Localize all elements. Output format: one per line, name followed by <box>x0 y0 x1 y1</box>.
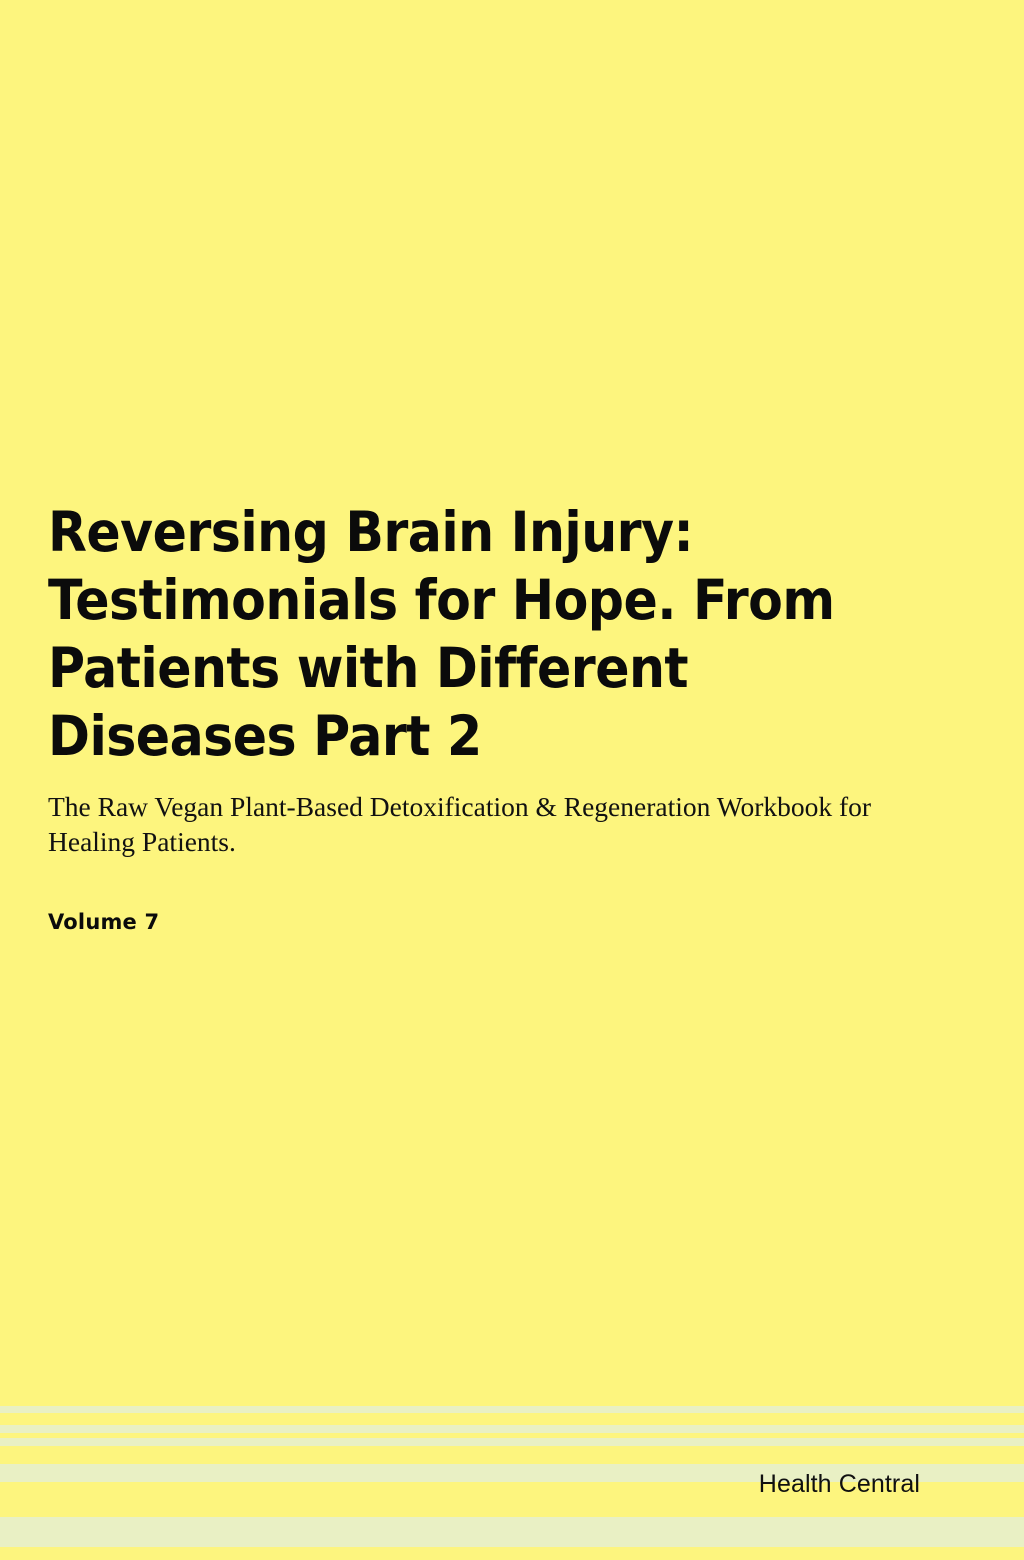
cover-subtitle: The Raw Vegan Plant-Based Detoxification… <box>48 770 918 859</box>
publisher-row: Health Central <box>0 1466 1024 1502</box>
stripe-5 <box>0 1438 1024 1446</box>
volume-label: Volume 7 <box>48 859 928 935</box>
page-title: Reversing Brain Injury: Testimonials for… <box>48 498 858 770</box>
publisher-name: Health Central <box>759 1469 920 1499</box>
stripe-0 <box>0 1380 1024 1406</box>
stripe-2 <box>0 1413 1024 1425</box>
decorative-stripe-band <box>0 1380 1024 1542</box>
stripe-1 <box>0 1406 1024 1413</box>
stripe-9 <box>0 1517 1024 1547</box>
cover-text-block: Reversing Brain Injury: Testimonials for… <box>48 498 928 935</box>
stripe-3 <box>0 1425 1024 1433</box>
stripe-6 <box>0 1446 1024 1464</box>
book-cover: Reversing Brain Injury: Testimonials for… <box>0 0 1024 1542</box>
stripe-10 <box>0 1547 1024 1560</box>
